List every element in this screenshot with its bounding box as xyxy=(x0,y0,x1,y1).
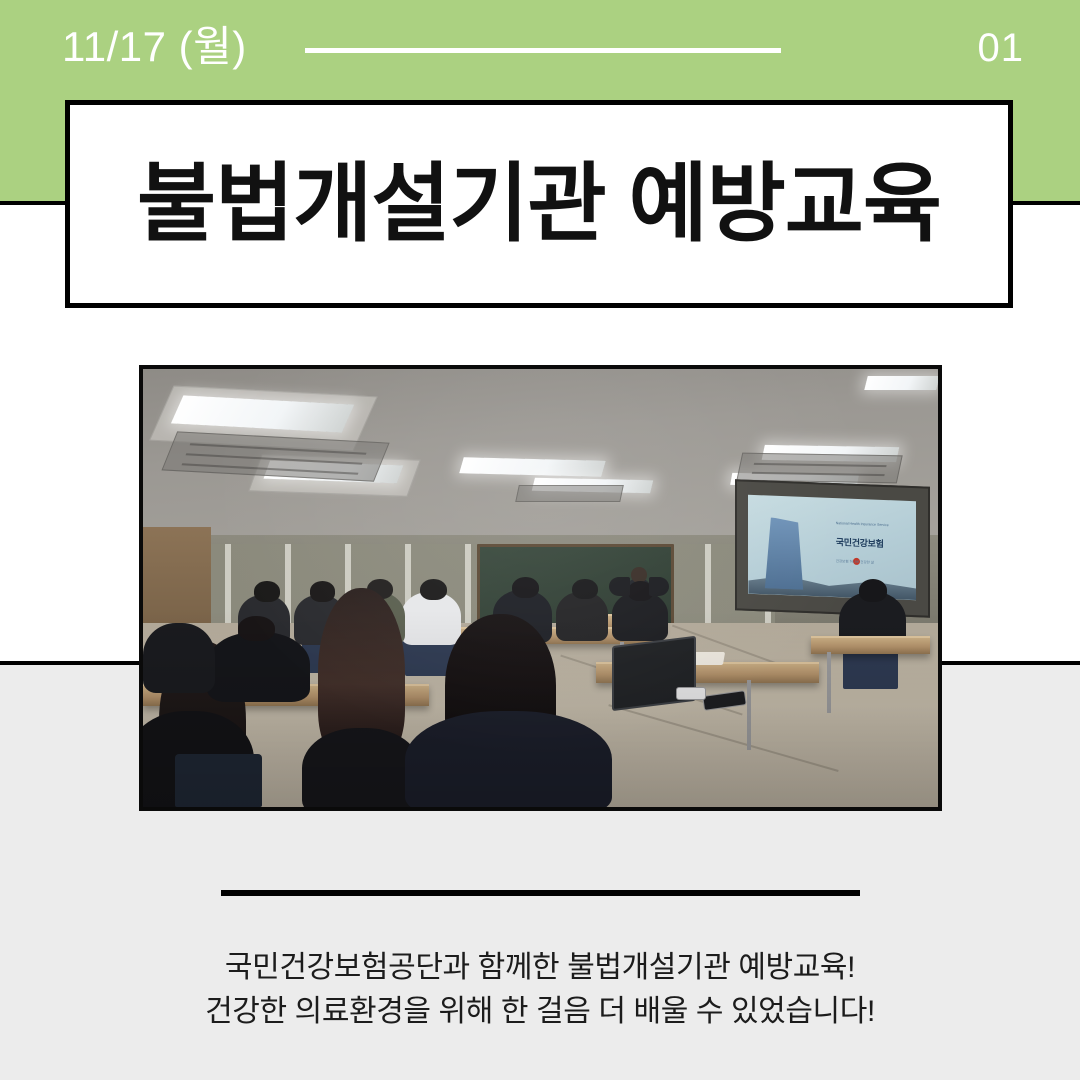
title-box: 불법개설기관 예방교육 xyxy=(65,100,1013,308)
ceiling-light-7 xyxy=(865,376,938,390)
page-title: 불법개설기관 예방교육 xyxy=(137,157,941,252)
header-rule xyxy=(305,48,781,53)
caption: 국민건강보험공단과 함께한 불법개설기관 예방교육! 건강한 의료환경을 위해 … xyxy=(0,946,1080,1033)
foreground-student-2-body xyxy=(302,728,421,807)
slide-building-graphic xyxy=(762,517,812,590)
event-photo: National Health Insurance Service 국민건강보험… xyxy=(139,365,942,811)
student-mid-3-head xyxy=(572,579,597,599)
slide-subtitle: National Health Insurance Service xyxy=(836,521,889,527)
student-mid-3 xyxy=(556,592,608,640)
student-mid-5-head xyxy=(310,581,335,601)
student-mid-2-head xyxy=(512,577,539,598)
student-right-head xyxy=(859,579,888,602)
presenter-head xyxy=(631,567,647,583)
chair-foreground xyxy=(175,754,262,807)
ceiling-light-3 xyxy=(459,457,606,476)
promo-card: 11/17 (월) 01 불법개설기관 예방교육 xyxy=(0,0,1080,1080)
header-date: 11/17 (월) xyxy=(62,22,247,72)
caption-line-2: 건강한 의료환경을 위해 한 걸음 더 배울 수 있었습니다! xyxy=(0,990,1080,1034)
page-number: 01 xyxy=(978,24,1025,72)
desk-right-leg xyxy=(827,652,831,713)
foreground-student-3-body xyxy=(405,711,612,807)
desk-near-right-leg xyxy=(747,680,751,750)
slide-title: 국민건강보험 xyxy=(836,535,884,550)
earbuds-case xyxy=(676,687,707,700)
foreground-student-5-body xyxy=(143,623,215,693)
student-mid-6-head xyxy=(254,581,279,601)
caption-line-1: 국민건강보험공단과 함께한 불법개설기관 예방교육! xyxy=(0,946,1080,990)
projection-screen: National Health Insurance Service 국민건강보험… xyxy=(749,494,917,600)
student-mid-1 xyxy=(401,592,461,645)
foreground-student-4-head xyxy=(238,616,275,641)
ceiling-vent-3 xyxy=(515,485,624,502)
photo-illustration: National Health Insurance Service 국민건강보험… xyxy=(143,369,938,807)
projection-screen-frame: National Health Insurance Service 국민건강보험… xyxy=(735,479,930,617)
foreground-student-4-body xyxy=(207,632,310,702)
student-hands-up-arm-left xyxy=(609,577,630,596)
caption-divider xyxy=(221,890,860,896)
student-mid-1-head xyxy=(420,579,447,600)
slide-footer: 건강보험 하나로 건강한 삶 xyxy=(836,559,874,565)
header: 11/17 (월) 01 xyxy=(0,0,1080,100)
